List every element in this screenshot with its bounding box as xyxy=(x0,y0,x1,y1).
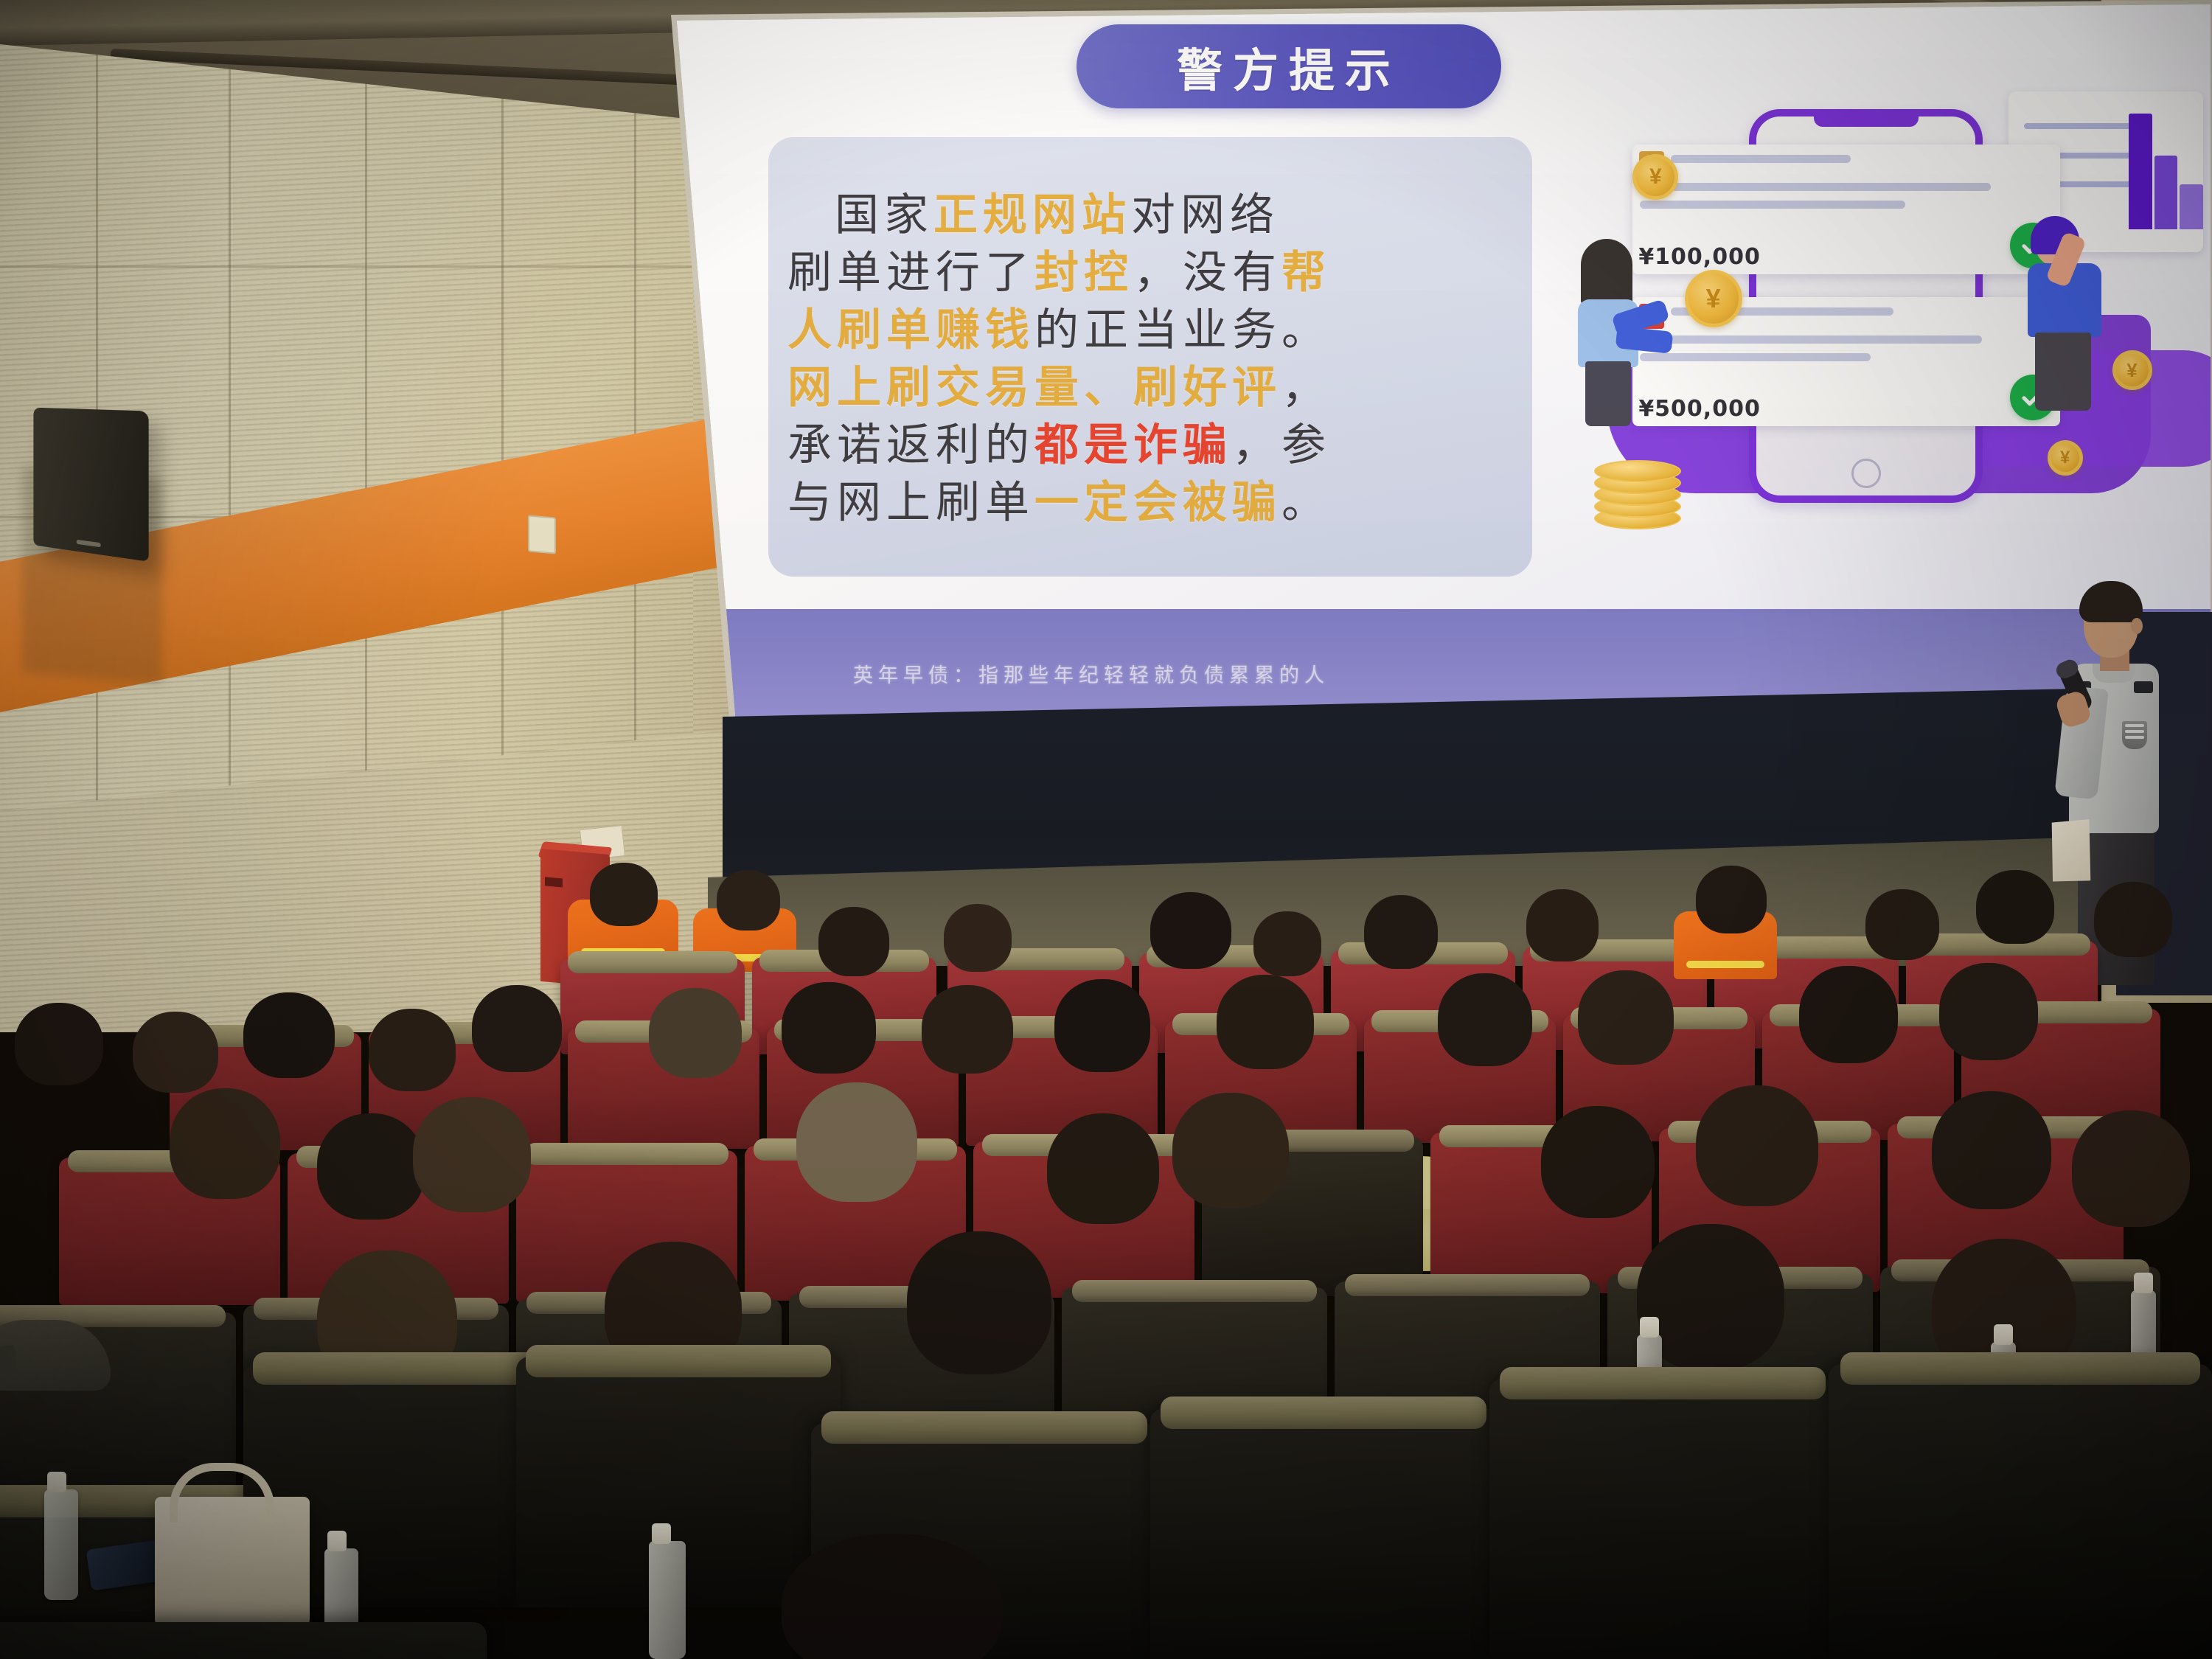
phone-notch xyxy=(1814,115,1919,127)
audience-head xyxy=(1541,1106,1655,1218)
slide-title-badge: 警方提示 xyxy=(1077,24,1500,108)
audience-head xyxy=(649,988,742,1078)
handbag xyxy=(155,1497,310,1630)
audience-head xyxy=(1696,1085,1818,1206)
auditorium-scene: 警方提示 国家正规网站对网络 刷单进行了封控，没有帮 人刷单赚钱的正当业务。 网… xyxy=(0,0,2212,1659)
officer-ear xyxy=(2131,618,2143,634)
slide-line-5: 承诺返利的都是诈骗，参 xyxy=(787,417,1516,474)
foreground-seat[interactable] xyxy=(0,1622,487,1659)
figure-legs xyxy=(1585,361,1631,426)
audience-head xyxy=(472,985,562,1072)
audience-head xyxy=(1865,889,1939,960)
wall-seam xyxy=(0,265,782,268)
audience-head xyxy=(2094,882,2172,957)
audience-head xyxy=(782,1534,1003,1659)
placeholder-line xyxy=(1640,201,1905,209)
officer-hair xyxy=(2079,581,2143,622)
audience-head xyxy=(590,863,658,926)
audience-head xyxy=(2072,1110,2190,1227)
chart-bar-1 xyxy=(2129,114,2152,229)
slide-text-card: 国家正规网站对网络 刷单进行了封控，没有帮 人刷单赚钱的正当业务。 网上刷交易量… xyxy=(768,137,1532,577)
audience-head xyxy=(1364,895,1438,969)
audience-head xyxy=(1054,979,1150,1072)
slide-line-3: 人刷单赚钱的正当业务。 xyxy=(787,302,1516,359)
audience-head xyxy=(1172,1093,1289,1208)
audience-head xyxy=(796,1082,917,1202)
audience-head xyxy=(369,1009,456,1091)
audience-head xyxy=(818,907,889,976)
wall-speaker xyxy=(33,408,148,562)
audience-head xyxy=(1150,892,1231,969)
audience-head xyxy=(1932,1091,2051,1209)
coin-stack xyxy=(1594,448,1690,529)
audience-head xyxy=(944,904,1012,972)
audience-head xyxy=(717,870,780,931)
slide-footer-note: 英年早债：指那些年纪轻轻就负债累累的人 xyxy=(853,659,1329,688)
audience-head xyxy=(922,985,1013,1074)
audience-head xyxy=(1438,973,1532,1066)
audience-head xyxy=(133,1012,218,1093)
officer-badge xyxy=(2122,721,2147,749)
audience-head xyxy=(15,1003,103,1085)
audience-head xyxy=(1047,1113,1159,1224)
coin-icon: ¥ xyxy=(1685,270,1742,327)
audience-head xyxy=(413,1097,531,1212)
illustration-figure-man xyxy=(2022,216,2140,415)
audience-head xyxy=(1939,963,2038,1060)
audience-head xyxy=(1526,889,1599,961)
slide-title-text: 警方提示 xyxy=(1177,33,1401,100)
slide-illustration: 👤 ¥100,000 👤 ¥500,000 xyxy=(1555,83,2203,529)
water-bottle xyxy=(44,1489,78,1600)
audience-area xyxy=(0,848,2212,1659)
phone-home-button xyxy=(1851,459,1881,488)
figure-hair xyxy=(1581,239,1632,307)
audience-head xyxy=(1696,866,1767,933)
audience-head xyxy=(1976,870,2054,944)
placeholder-line xyxy=(1671,155,1851,163)
audience-head xyxy=(1578,970,1674,1065)
transaction-card: 👤 ¥100,000 xyxy=(1632,145,2060,274)
audience-head xyxy=(1253,911,1321,976)
audience-head xyxy=(1799,966,1898,1063)
slide-line-2: 刷单进行了封控，没有帮 xyxy=(787,244,1516,302)
wall-socket xyxy=(528,515,556,554)
placeholder-line xyxy=(1640,335,1982,344)
coin-icon: ¥ xyxy=(1632,154,1678,200)
illustration-figure-woman xyxy=(1568,243,1678,428)
audience-head xyxy=(782,982,876,1074)
projection-screen: 警方提示 国家正规网站对网络 刷单进行了封控，没有帮 人刷单赚钱的正当业务。 网… xyxy=(668,3,2211,724)
audience-head xyxy=(907,1231,1051,1374)
officer-epaulette xyxy=(2134,681,2153,693)
audience-head xyxy=(170,1088,280,1199)
presentation-slide: 警方提示 国家正规网站对网络 刷单进行了封控，没有帮 人刷单赚钱的正当业务。 网… xyxy=(668,3,2211,724)
foreground-seat[interactable] xyxy=(1150,1408,1497,1659)
slide-line-6: 与网上刷单一定会被骗。 xyxy=(787,474,1516,532)
water-bottle xyxy=(649,1541,686,1659)
chart-bar-3 xyxy=(2180,184,2203,229)
slide-line-4: 网上刷交易量、刷好评， xyxy=(787,359,1516,417)
wall-seam xyxy=(229,44,231,914)
coin-icon: ¥ xyxy=(2048,440,2083,476)
audience-head xyxy=(1217,975,1314,1069)
slide-line-1: 国家正规网站对网络 xyxy=(787,187,1516,244)
audience-head xyxy=(243,992,335,1078)
chart-bar-2 xyxy=(2154,156,2178,229)
figure-legs xyxy=(2035,333,2091,411)
placeholder-line xyxy=(1640,183,1991,191)
foreground-seat[interactable] xyxy=(1489,1379,1836,1659)
foreground-seat[interactable] xyxy=(1829,1364,2212,1659)
audience-head xyxy=(317,1113,425,1220)
chart-text-line xyxy=(2024,123,2133,129)
